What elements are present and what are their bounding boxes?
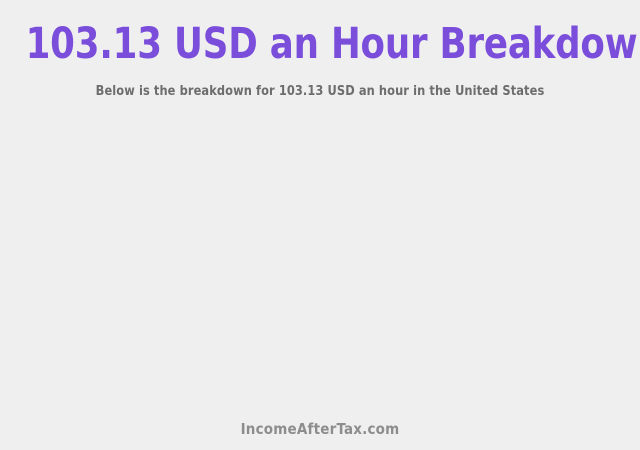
page-subtitle: Below is the breakdown for 103.13 USD an…: [19, 68, 621, 99]
page-header: 103.13 USD an Hour Breakdown Below is th…: [0, 0, 640, 99]
site-credit: IncomeAfterTax.com: [0, 420, 640, 438]
breakdown-page: 103.13 USD an Hour Breakdown Below is th…: [0, 0, 640, 450]
breakdown-content-area: [0, 99, 640, 420]
page-footer: IncomeAfterTax.com: [0, 420, 640, 450]
page-title: 103.13 USD an Hour Breakdown: [26, 20, 615, 68]
